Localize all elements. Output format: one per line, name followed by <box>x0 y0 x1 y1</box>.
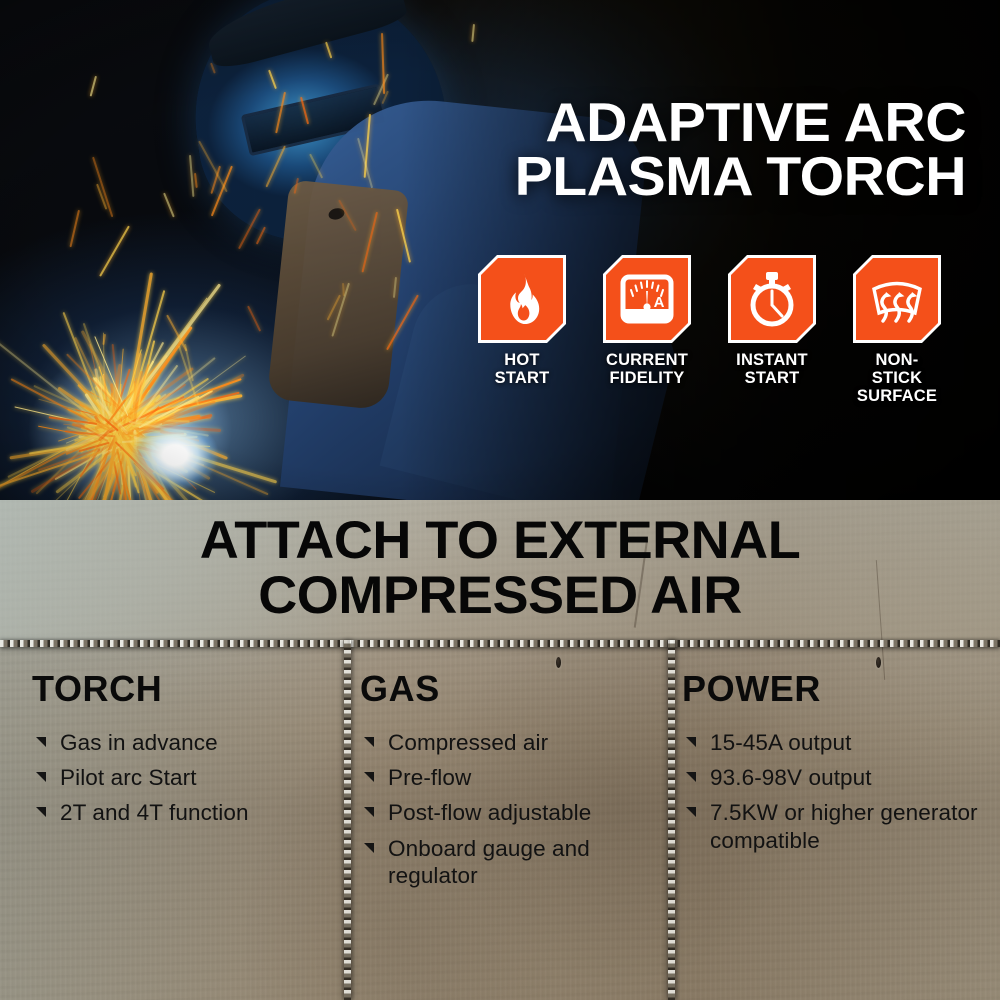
hero-vignette <box>0 0 1000 500</box>
spec-list-item: Onboard gauge and regulator <box>360 835 660 889</box>
feature-label: INSTANT START <box>728 352 816 388</box>
spec-item-text: Pilot arc Start <box>60 765 197 790</box>
spec-list-item: Pre-flow <box>360 764 660 791</box>
hero-photo-section: ADAPTIVE ARC PLASMA TORCH HOT START <box>0 0 1000 500</box>
bullet-triangle-icon <box>36 737 46 747</box>
panel-rivet <box>876 657 881 668</box>
spec-list-item: Gas in advance <box>32 729 340 756</box>
spec-list-item: 7.5KW or higher generator compatible <box>682 799 1000 853</box>
spec-item-text: 93.6-98V output <box>710 765 872 790</box>
spec-list: Compressed airPre-flowPost-flow adjustab… <box>360 729 660 889</box>
metal-panel-section: ATTACH TO EXTERNAL COMPRESSED AIR TORCH … <box>0 500 1000 1000</box>
spec-item-text: Onboard gauge and regulator <box>388 836 590 888</box>
spec-list-item: Post-flow adjustable <box>360 799 660 826</box>
feature-badge-row: HOT START <box>478 255 978 405</box>
spec-title: GAS <box>360 668 660 710</box>
spec-item-text: Post-flow adjustable <box>388 800 591 825</box>
bullet-triangle-icon <box>364 807 374 817</box>
feature-instant-start[interactable]: INSTANT START <box>728 255 816 405</box>
spec-list-item: Compressed air <box>360 729 660 756</box>
flame-icon <box>499 273 545 325</box>
bullet-triangle-icon <box>686 737 696 747</box>
feature-label: HOT START <box>478 352 566 388</box>
spec-item-text: Pre-flow <box>388 765 471 790</box>
spec-columns: TORCH Gas in advancePilot arc Start2T an… <box>0 668 1000 897</box>
badge-fill <box>856 258 938 340</box>
badge-fill <box>481 258 563 340</box>
spec-item-text: Gas in advance <box>60 730 218 755</box>
bullet-triangle-icon <box>364 843 374 853</box>
spec-title: TORCH <box>32 668 340 710</box>
panel-rivet <box>556 657 561 668</box>
horizontal-weld-seam <box>0 640 1000 647</box>
badge-fill <box>731 258 813 340</box>
banner-line-2: COMPRESSED AIR <box>0 569 1000 624</box>
banner-line-1: ATTACH TO EXTERNAL <box>0 514 1000 569</box>
bullet-triangle-icon <box>364 737 374 747</box>
spec-list: 15-45A output93.6-98V output7.5KW or hig… <box>682 729 1000 854</box>
ammeter-icon: A <box>620 272 674 326</box>
bullet-triangle-icon <box>686 807 696 817</box>
feature-current-fidelity[interactable]: A CURRENT FIDELITY <box>603 255 691 405</box>
feature-hot-start[interactable]: HOT START <box>478 255 566 405</box>
spec-list-item: 15-45A output <box>682 729 1000 756</box>
spec-title: POWER <box>682 668 1000 710</box>
feature-label: NON-STICK SURFACE <box>853 352 941 405</box>
headline-line-1: ADAPTIVE ARC <box>384 96 966 150</box>
badge-frame <box>853 255 941 343</box>
badge-frame: A <box>603 255 691 343</box>
spec-column-power: POWER 15-45A output93.6-98V output7.5KW … <box>660 668 1000 897</box>
spec-list: Gas in advancePilot arc Start2T and 4T f… <box>32 729 340 827</box>
page-title: ADAPTIVE ARC PLASMA TORCH <box>384 96 966 204</box>
bullet-triangle-icon <box>686 772 696 782</box>
spec-list-item: 93.6-98V output <box>682 764 1000 791</box>
product-infographic: ADAPTIVE ARC PLASMA TORCH HOT START <box>0 0 1000 1000</box>
ammeter-letter: A <box>654 294 665 311</box>
badge-fill: A <box>606 258 688 340</box>
feature-non-stick-surface[interactable]: NON-STICK SURFACE <box>853 255 941 405</box>
spec-item-text: 15-45A output <box>710 730 851 755</box>
spec-list-item: 2T and 4T function <box>32 799 340 826</box>
bullet-triangle-icon <box>36 807 46 817</box>
banner-headline: ATTACH TO EXTERNAL COMPRESSED AIR <box>0 514 1000 623</box>
badge-frame <box>478 255 566 343</box>
spec-item-text: 2T and 4T function <box>60 800 249 825</box>
spec-item-text: 7.5KW or higher generator compatible <box>710 800 978 852</box>
spec-column-gas: GAS Compressed airPre-flowPost-flow adju… <box>340 668 660 897</box>
bullet-triangle-icon <box>36 772 46 782</box>
spec-list-item: Pilot arc Start <box>32 764 340 791</box>
feature-label: CURRENT FIDELITY <box>603 352 691 388</box>
spec-item-text: Compressed air <box>388 730 548 755</box>
headline-line-2: PLASMA TORCH <box>384 150 966 204</box>
spec-column-torch: TORCH Gas in advancePilot arc Start2T an… <box>0 668 340 897</box>
stopwatch-icon <box>744 270 800 328</box>
non-stick-icon <box>868 273 926 325</box>
badge-frame <box>728 255 816 343</box>
bullet-triangle-icon <box>364 772 374 782</box>
